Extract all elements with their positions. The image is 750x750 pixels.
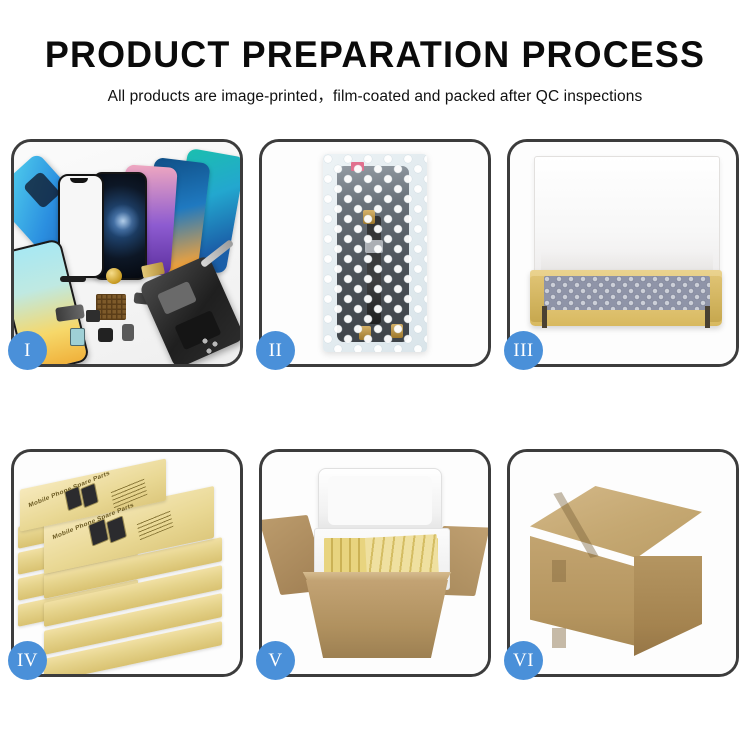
step-panel-6: VI: [507, 449, 739, 677]
bubble-padding-graphic: [544, 276, 710, 310]
step-photo-open-kraft-box: [510, 142, 736, 364]
step-photo-stacked-boxes: Mobile Phone Spare Parts Mobile Phone Sp…: [14, 452, 240, 674]
screws-graphic: [202, 338, 224, 354]
small-part-graphic-2: [98, 328, 113, 342]
speaker-coil-part-graphic: [106, 268, 122, 284]
step-panel-3: III: [507, 139, 739, 367]
carton-tape-graphic-2: [552, 628, 566, 648]
chip-grid-part-graphic: [96, 294, 126, 320]
step-panel-5: V: [259, 449, 491, 677]
page-subtitle: All products are image-printed，film-coat…: [0, 75, 750, 106]
header: PRODUCT PREPARATION PROCESS All products…: [0, 0, 750, 106]
small-part-graphic-4: [86, 310, 100, 322]
step-photo-bubble-wrapped-screen: [262, 142, 488, 364]
white-box-lid-graphic: [534, 156, 720, 286]
step-panel-1: I: [11, 139, 243, 367]
carton-side-face-graphic: [634, 556, 702, 656]
page-title: PRODUCT PREPARATION PROCESS: [11, 0, 739, 75]
bar-part-graphic: [60, 276, 86, 282]
foam-box-lid-graphic: [318, 468, 442, 534]
product-preparation-infographic: PRODUCT PREPARATION PROCESS All products…: [0, 0, 750, 750]
steps-grid: I II: [11, 139, 739, 677]
tray-flap-left-graphic: [542, 306, 547, 328]
step-badge-4: IV: [8, 641, 47, 680]
carton-body-graphic: [306, 580, 448, 658]
step-badge-2: II: [256, 331, 295, 370]
step-badge-5: V: [256, 641, 295, 680]
tray-flap-right-graphic: [705, 306, 710, 328]
bubble-texture-graphic: [323, 154, 427, 352]
small-part-graphic-3: [122, 324, 134, 341]
flex-cable-part-graphic-1: [55, 304, 85, 322]
step-photo-sealed-carton: [510, 452, 736, 674]
bubble-bag-graphic: [323, 154, 427, 352]
screen-crack-graphic: [106, 204, 140, 238]
step-photo-carton-with-foam-box: [262, 452, 488, 674]
kraft-box-tray-graphic: [530, 270, 722, 326]
carton-tape-graphic-1: [552, 560, 566, 582]
step-photo-phones-and-parts: [14, 142, 240, 364]
step-badge-6: VI: [504, 641, 543, 680]
step-badge-3: III: [504, 331, 543, 370]
step-badge-1: I: [8, 331, 47, 370]
step-panel-2: II: [259, 139, 491, 367]
bag-body-graphic: [323, 154, 427, 352]
step-panel-4: Mobile Phone Spare Parts Mobile Phone Sp…: [11, 449, 243, 677]
small-part-graphic-1: [70, 328, 85, 346]
